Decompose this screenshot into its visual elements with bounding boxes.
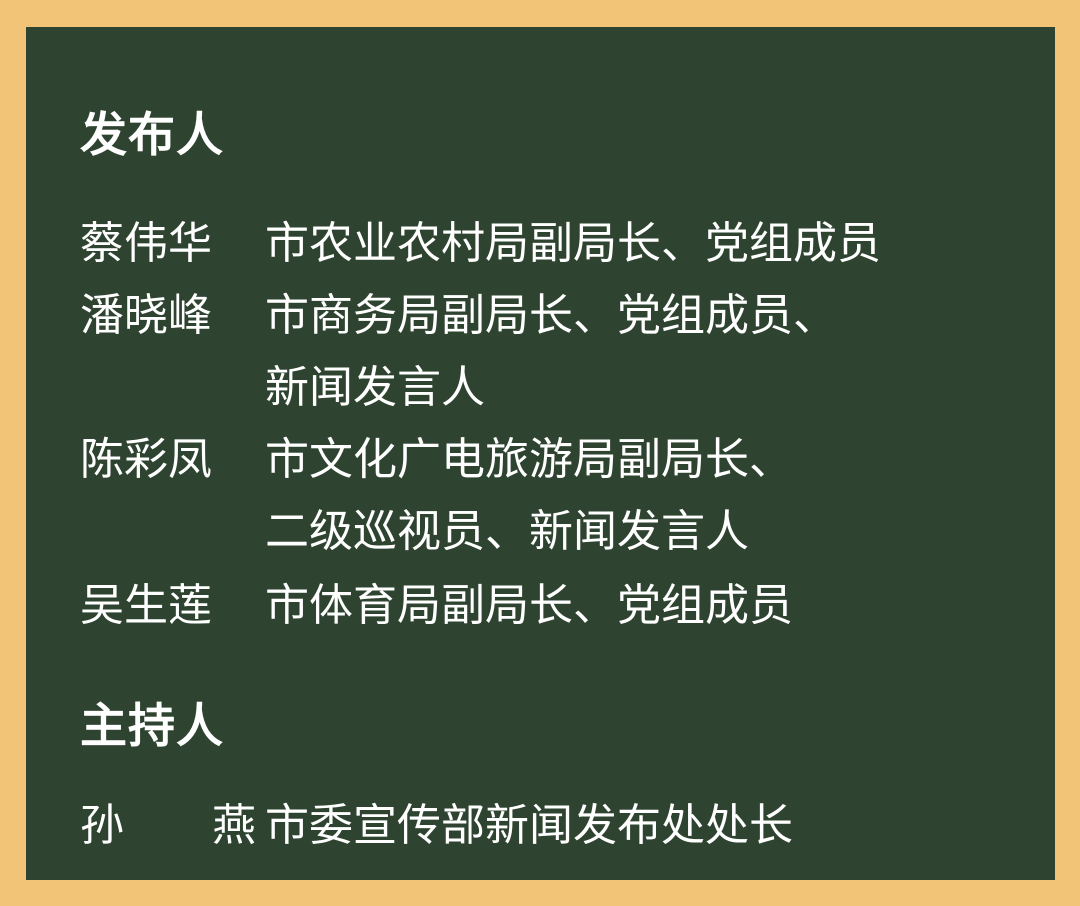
speaker-row: 吴生莲 市体育局副局长、党组成员 — [80, 584, 793, 628]
section-heading-publishers: 发布人 — [80, 111, 224, 158]
green-panel: 发布人 蔡伟华 市农业农村局副局长、党组成员 潘晓峰 市商务局副局长、党组成员、… — [26, 27, 1055, 880]
speaker-row: 潘晓峰 市商务局副局长、党组成员、 新闻发言人 — [80, 294, 837, 410]
speaker-row: 陈彩凤 市文化广电旅游局副局长、 二级巡视员、新闻发言人 — [80, 438, 793, 554]
speaker-title-line: 市文化广电旅游局副局长、 — [265, 438, 793, 482]
speaker-title-line: 新闻发言人 — [265, 366, 837, 410]
host-row: 孙 燕 市委宣传部新闻发布处处长 — [80, 804, 793, 848]
host-title-line: 市委宣传部新闻发布处处长 — [265, 804, 793, 848]
speaker-title-line: 市体育局副局长、党组成员 — [265, 584, 793, 628]
speaker-title: 市商务局副局长、党组成员、 新闻发言人 — [265, 294, 837, 410]
speaker-title: 市农业农村局副局长、党组成员 — [265, 222, 881, 266]
speaker-name: 蔡伟华 — [80, 222, 265, 266]
speaker-name: 潘晓峰 — [80, 294, 265, 338]
speaker-title-line: 二级巡视员、新闻发言人 — [265, 510, 793, 554]
speaker-name: 陈彩凤 — [80, 438, 265, 482]
speaker-title: 市体育局副局长、党组成员 — [265, 584, 793, 628]
speaker-name: 吴生莲 — [80, 584, 265, 628]
panel-content: 发布人 蔡伟华 市农业农村局副局长、党组成员 潘晓峰 市商务局副局长、党组成员、… — [80, 27, 1055, 880]
speaker-title: 市文化广电旅游局副局长、 二级巡视员、新闻发言人 — [265, 438, 793, 554]
section-heading-host: 主持人 — [80, 702, 224, 749]
speaker-title-line: 市农业农村局副局长、党组成员 — [265, 222, 881, 266]
host-title: 市委宣传部新闻发布处处长 — [265, 804, 793, 848]
host-name: 孙 燕 — [80, 804, 265, 848]
speaker-title-line: 市商务局副局长、党组成员、 — [265, 294, 837, 338]
speaker-row: 蔡伟华 市农业农村局副局长、党组成员 — [80, 222, 881, 266]
